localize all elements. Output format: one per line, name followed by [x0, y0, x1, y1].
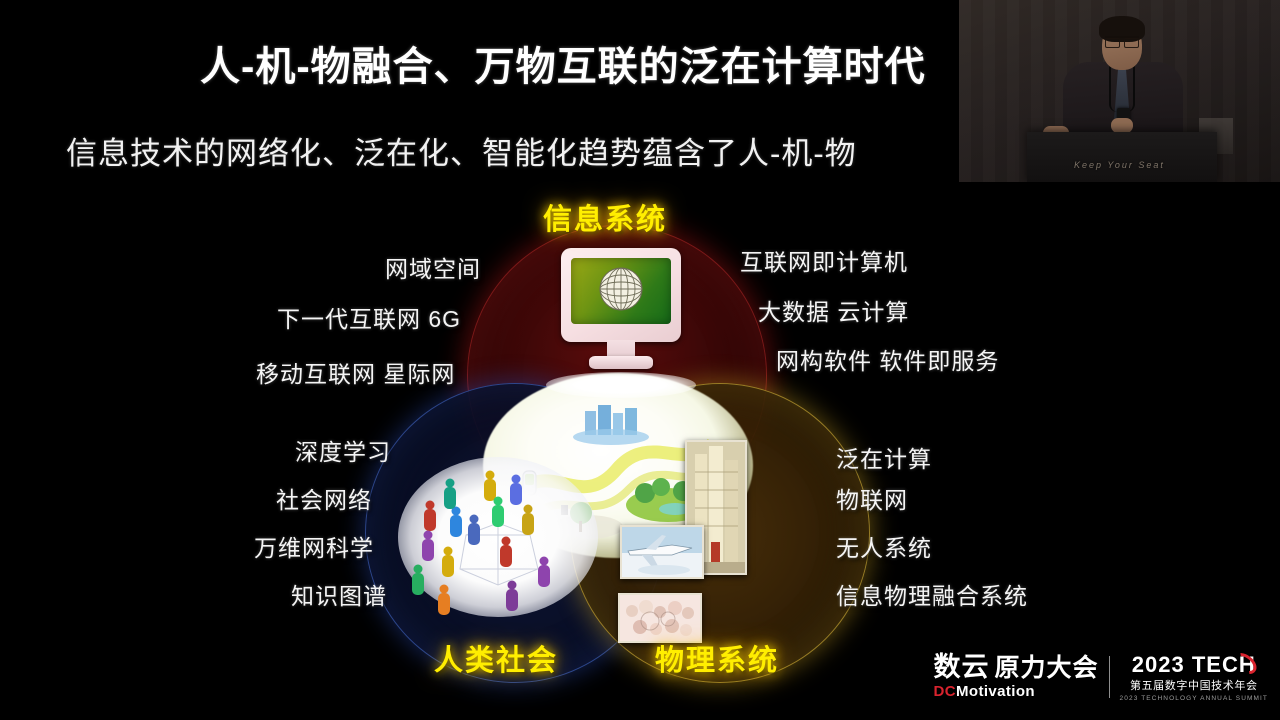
logo-brand-cn: 数云 原力大会 — [934, 654, 1099, 681]
glasses-icon — [1105, 36, 1139, 45]
logo-brand-en: DC Motivation — [934, 683, 1035, 700]
keyword-label: 知识图谱 — [291, 577, 387, 611]
conference-logo: 数云 原力大会 DC Motivation 2023 TECH 第五届数字中国技… — [934, 653, 1268, 702]
keyword-label: 社会网络 — [276, 481, 372, 515]
logo-summit-cn: 第五届数字中国技术年会 — [1130, 677, 1258, 693]
keyword-label: 物联网 — [836, 481, 908, 515]
airplane-photo-thumbnail — [620, 525, 704, 579]
keyword-label: 大数据 云计算 — [758, 293, 909, 327]
caption-physical-systems: 物理系统 — [655, 637, 779, 679]
slide-title: 人-机-物融合、万物互联的泛在计算时代 — [200, 34, 926, 92]
logo-shuyun: 数云 — [934, 654, 990, 681]
podium — [1027, 132, 1217, 183]
logo-summit-block: 2023 TECH 第五届数字中国技术年会 2023 TECHNOLOGY AN… — [1120, 653, 1268, 702]
logo-summit-en: 2023 TECHNOLOGY ANNUAL SUMMIT — [1120, 695, 1268, 702]
logo-motivation: Motivation — [956, 683, 1035, 700]
podium-text: Keep Your Seat — [959, 160, 1280, 170]
keyword-label: 万维网科学 — [254, 529, 374, 563]
logo-dc: DC — [934, 683, 956, 700]
slide-subtitle: 信息技术的网络化、泛在化、智能化趋势蕴含了人-机-物 — [66, 128, 857, 173]
keyword-label: 网域空间 — [385, 250, 481, 284]
logo-year-tech: 2023 TECH — [1132, 653, 1256, 676]
keyword-label: 泛在计算 — [836, 440, 932, 474]
caption-human-society: 人类社会 — [434, 637, 558, 679]
people-network-icon — [398, 457, 598, 617]
keyword-label: 互联网即计算机 — [740, 243, 908, 277]
logo-brand-block: 数云 原力大会 DC Motivation — [934, 654, 1099, 700]
keyword-label: 下一代互联网 6G — [277, 300, 461, 334]
logo-yuanli: 原力大会 — [995, 656, 1099, 681]
presentation-slide: 人-机-物融合、万物互联的泛在计算时代 信息技术的网络化、泛在化、智能化趋势蕴含… — [0, 0, 1280, 720]
keyword-label: 信息物理融合系统 — [836, 577, 1028, 611]
speaker-video-overlay[interactable]: Keep Your Seat — [958, 0, 1280, 183]
keyword-label: 移动互联网 星际网 — [256, 355, 455, 389]
crowd-photo-thumbnail — [618, 593, 702, 643]
logo-divider — [1109, 656, 1110, 698]
keyword-label: 网构软件 软件即服务 — [776, 342, 999, 376]
speaker-right-hand — [1111, 118, 1133, 133]
caption-information-systems: 信息系统 — [543, 196, 667, 238]
keyword-label: 深度学习 — [295, 433, 391, 467]
keyword-label: 无人系统 — [836, 529, 932, 563]
monitor-globe-icon — [561, 248, 681, 378]
speaker-lanyard — [1109, 66, 1135, 112]
